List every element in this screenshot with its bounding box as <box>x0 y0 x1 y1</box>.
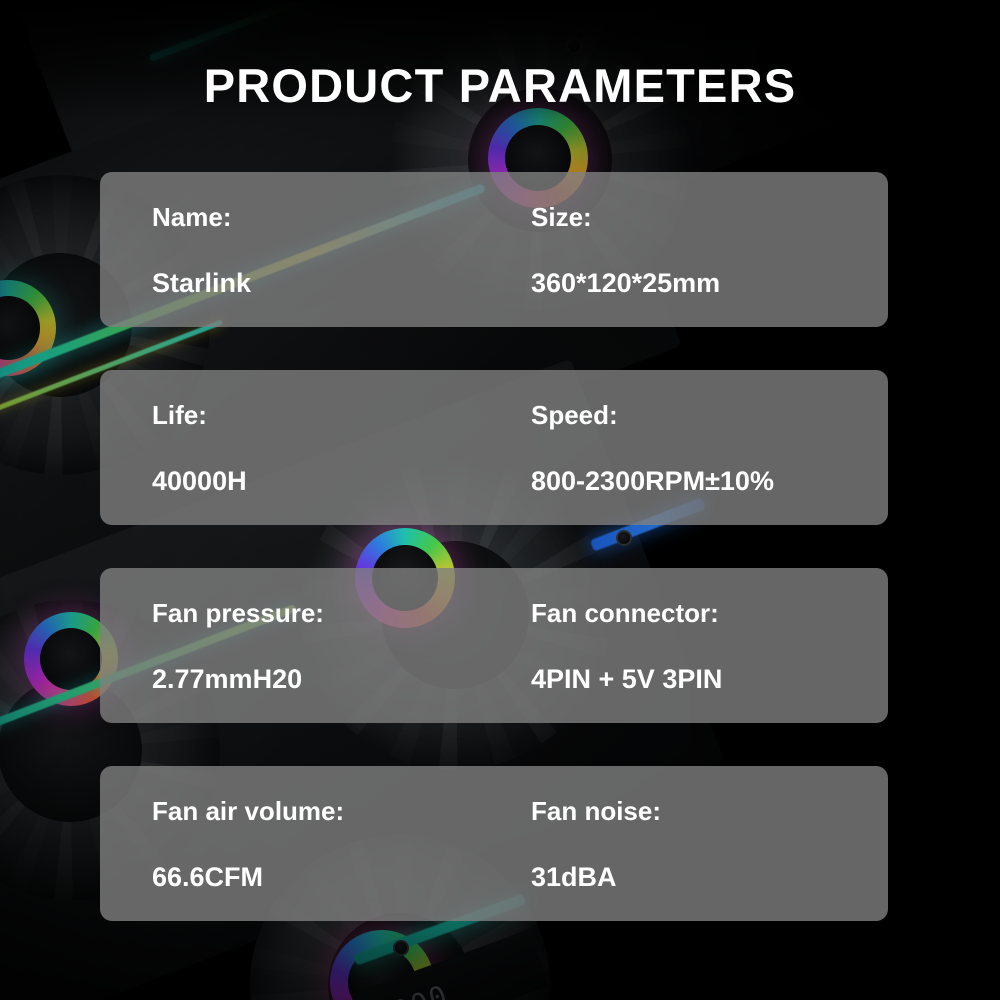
parameter-label: Life: <box>152 402 494 428</box>
parameter-cell-fan-pressure: Fan pressure: 2.77mmH20 <box>100 568 494 723</box>
parameter-card-list: Name: Starlink Size: 360*120*25mm Life: … <box>100 172 888 964</box>
parameter-card: Life: 40000H Speed: 800-2300RPM±10% <box>100 370 888 525</box>
parameter-value: 800-2300RPM±10% <box>531 468 888 495</box>
parameter-label: Speed: <box>531 402 888 428</box>
parameter-label: Fan air volume: <box>152 798 494 824</box>
parameter-label: Name: <box>152 204 494 230</box>
parameter-value: 40000H <box>152 468 494 495</box>
parameter-value: 2.77mmH20 <box>152 666 494 693</box>
parameter-label: Fan pressure: <box>152 600 494 626</box>
parameter-label: Fan noise: <box>531 798 888 824</box>
parameter-value: 31dBA <box>531 864 888 891</box>
parameter-cell-fan-connector: Fan connector: 4PIN + 5V 3PIN <box>494 568 888 723</box>
content-layer: PRODUCT PARAMETERS Name: Starlink Size: … <box>0 0 1000 1000</box>
page-title: PRODUCT PARAMETERS <box>0 60 1000 112</box>
product-parameters-page: 2000 PRODUCT PARAMETERS Name: Starlink S… <box>0 0 1000 1000</box>
parameter-value: 66.6CFM <box>152 864 494 891</box>
parameter-cell-name: Name: Starlink <box>100 172 494 327</box>
parameter-value: 360*120*25mm <box>531 270 888 297</box>
parameter-cell-life: Life: 40000H <box>100 370 494 525</box>
parameter-cell-size: Size: 360*120*25mm <box>494 172 888 327</box>
parameter-cell-fan-air-volume: Fan air volume: 66.6CFM <box>100 766 494 921</box>
parameter-cell-speed: Speed: 800-2300RPM±10% <box>494 370 888 525</box>
parameter-value: Starlink <box>152 270 494 297</box>
parameter-card: Fan pressure: 2.77mmH20 Fan connector: 4… <box>100 568 888 723</box>
parameter-label: Size: <box>531 204 888 230</box>
parameter-card: Name: Starlink Size: 360*120*25mm <box>100 172 888 327</box>
parameter-value: 4PIN + 5V 3PIN <box>531 666 888 693</box>
parameter-card: Fan air volume: 66.6CFM Fan noise: 31dBA <box>100 766 888 921</box>
parameter-label: Fan connector: <box>531 600 888 626</box>
parameter-cell-fan-noise: Fan noise: 31dBA <box>494 766 888 921</box>
